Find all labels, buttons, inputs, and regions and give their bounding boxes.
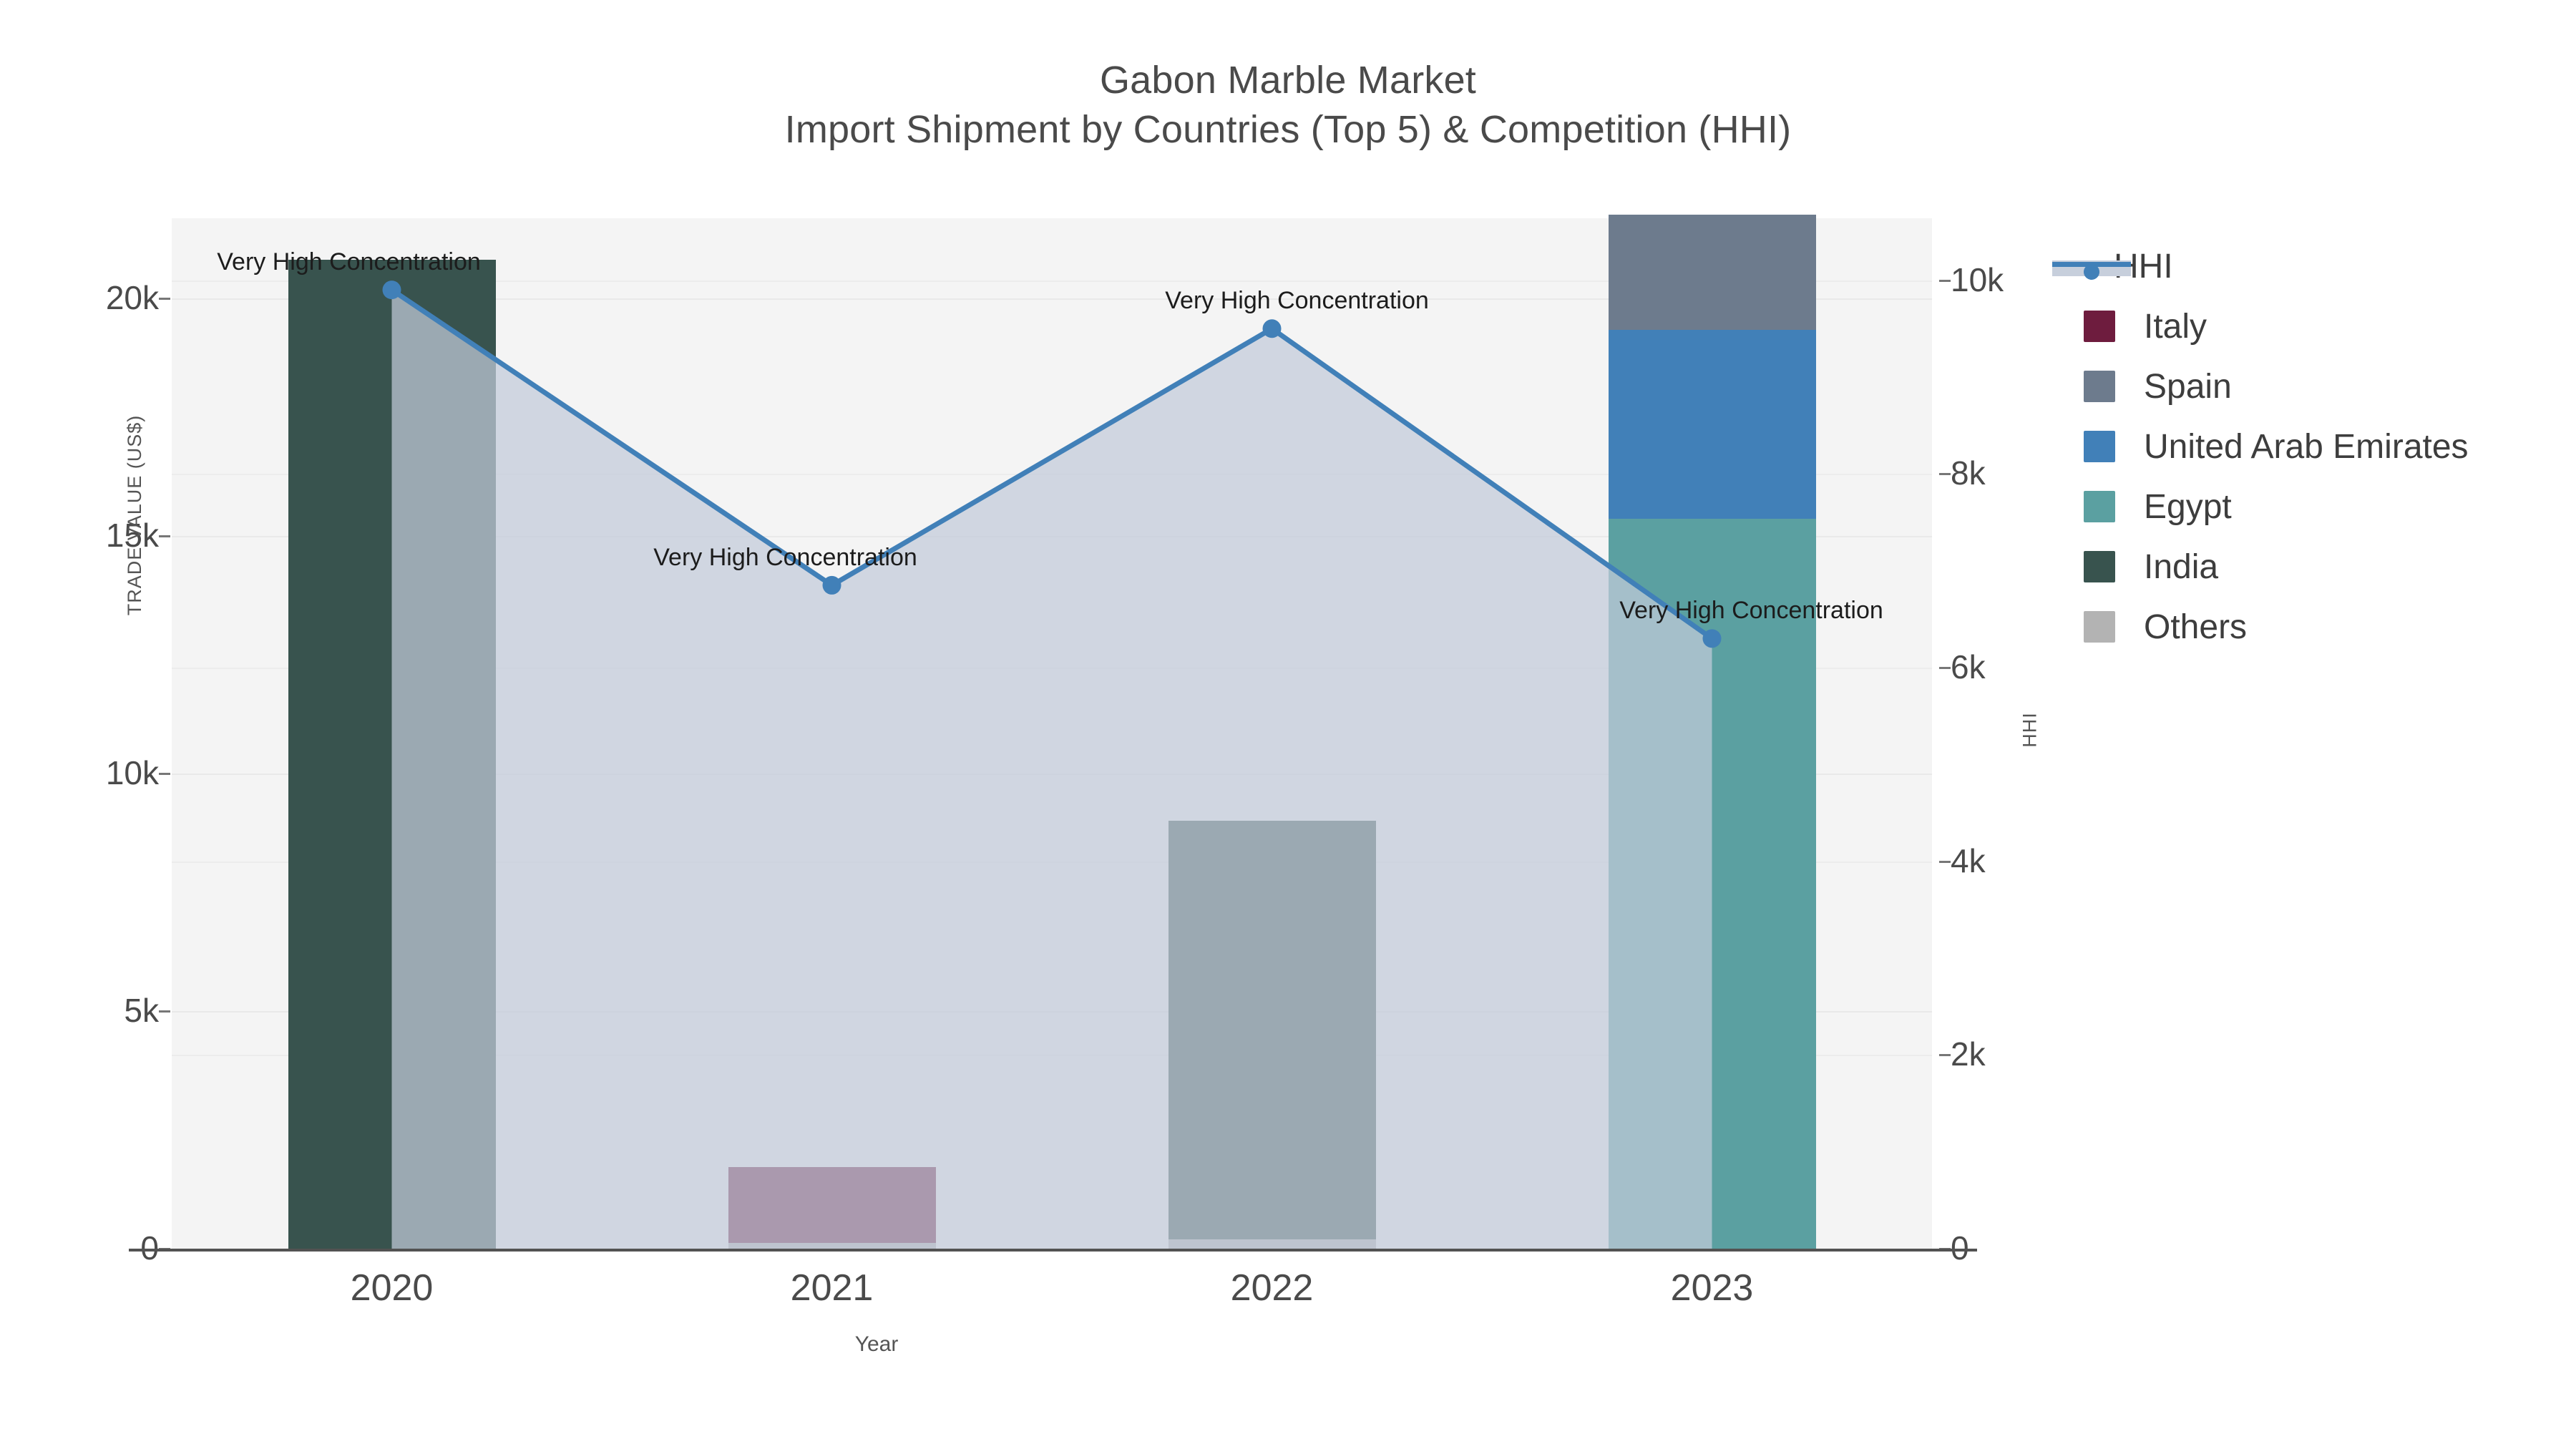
tick-mark	[1939, 667, 1951, 669]
y-axis-right-tick: 2k	[1951, 1035, 2122, 1073]
legend-item-label: Egypt	[2144, 487, 2232, 527]
concentration-annotation: Very High Concentration	[653, 544, 917, 572]
y-axis-right-tick: 0	[1951, 1229, 2122, 1267]
legend-item[interactable]: Spain	[2052, 356, 2553, 416]
y-axis-left-tick: 20k	[0, 278, 159, 317]
bar-segment[interactable]	[1609, 519, 1816, 1249]
chart-root: Gabon Marble Market Import Shipment by C…	[0, 0, 2576, 1449]
legend-item-label: Others	[2144, 608, 2247, 647]
chart-title-block: Gabon Marble Market Import Shipment by C…	[0, 56, 2576, 155]
x-axis-line	[129, 1249, 1977, 1252]
tick-mark	[159, 773, 170, 775]
legend-item[interactable]: United Arab Emirates	[2052, 416, 2553, 477]
legend-color-swatch	[2084, 371, 2115, 402]
chart-title: Gabon Marble Market	[0, 56, 2576, 105]
legend-color-swatch	[2084, 431, 2115, 462]
legend-item-label: Spain	[2144, 367, 2232, 406]
legend-item-label: Italy	[2144, 307, 2207, 346]
legend-color-swatch	[2084, 551, 2115, 582]
legend-item[interactable]: HHI	[2052, 236, 2553, 296]
tick-mark	[159, 1010, 170, 1013]
bar-segment[interactable]	[1609, 215, 1816, 330]
tick-mark	[1939, 1054, 1951, 1056]
y-axis-left-tick: 0	[0, 1229, 159, 1267]
x-axis-tick: 2023	[1584, 1267, 1841, 1309]
chart-legend: HHIItalySpainUnited Arab EmiratesEgyptIn…	[2052, 236, 2553, 657]
bar-segment[interactable]	[1169, 1239, 1376, 1249]
y-axis-right-label: HHI	[2019, 712, 2041, 748]
legend-item[interactable]: India	[2052, 537, 2553, 597]
chart-subtitle: Import Shipment by Countries (Top 5) & C…	[0, 105, 2576, 155]
bar-segment[interactable]	[728, 1243, 936, 1249]
legend-item[interactable]: Egypt	[2052, 477, 2553, 537]
legend-line-icon	[2052, 250, 2131, 282]
concentration-annotation: Very High Concentration	[217, 248, 481, 276]
x-axis-tick: 2022	[1143, 1267, 1401, 1309]
legend-item[interactable]: Others	[2052, 597, 2553, 657]
tick-mark	[1939, 473, 1951, 475]
y-axis-left-tick: 10k	[0, 753, 159, 792]
tick-mark	[159, 298, 170, 300]
tick-mark	[1939, 861, 1951, 863]
legend-color-swatch	[2084, 491, 2115, 522]
bar-segment[interactable]	[728, 1167, 936, 1243]
legend-item[interactable]: Italy	[2052, 296, 2553, 356]
tick-mark	[159, 535, 170, 537]
x-axis-tick: 2020	[263, 1267, 521, 1309]
legend-line-dot	[2084, 264, 2099, 280]
legend-item-label: India	[2144, 547, 2218, 587]
bar-segment[interactable]	[1169, 821, 1376, 1239]
legend-item-label: United Arab Emirates	[2144, 427, 2469, 467]
x-axis-label: Year	[855, 1332, 899, 1357]
y-axis-left-tick: 5k	[0, 991, 159, 1030]
x-axis-label-wrap: Year	[0, 1332, 2576, 1357]
y-axis-right-tick: 4k	[1951, 841, 2122, 880]
concentration-annotation: Very High Concentration	[1165, 287, 1429, 315]
legend-color-swatch	[2084, 611, 2115, 643]
bar-segment[interactable]	[1609, 330, 1816, 519]
legend-color-swatch	[2084, 311, 2115, 342]
tick-mark	[1939, 280, 1951, 282]
y-axis-left-label: TRADE VALUE (US$)	[124, 415, 146, 616]
concentration-annotation: Very High Concentration	[1619, 597, 1883, 625]
x-axis-tick: 2021	[703, 1267, 961, 1309]
bar-segment[interactable]	[288, 260, 496, 1249]
